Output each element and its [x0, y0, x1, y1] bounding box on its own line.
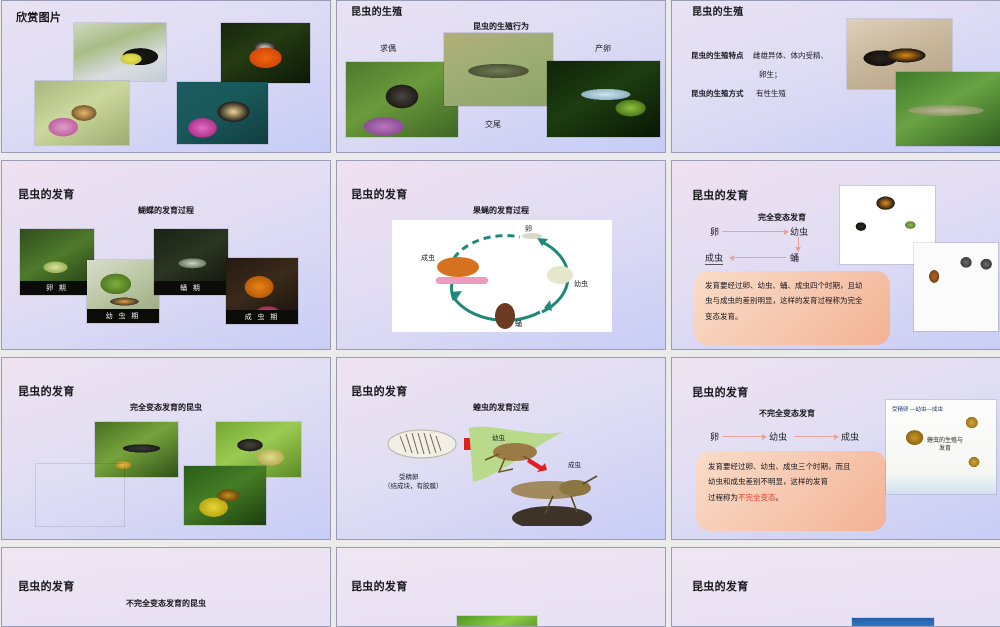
slide-thumbnail-2[interactable]: 昆虫的生殖 昆虫的生殖行为 求偶 交尾 产卵 — [336, 0, 666, 153]
photo-honeybee-on-flower — [184, 466, 266, 525]
cycle-label-adult: 成虫 — [421, 253, 435, 263]
callout-tail: 。 — [776, 493, 784, 502]
slide-thumbnail-9[interactable]: 昆虫的发育 不完全变态发育 卵 幼虫 成虫 发育要经过卵、幼虫、成虫三个时期，而… — [671, 357, 1000, 540]
slide-title: 昆虫的生殖 — [692, 3, 744, 18]
slide-subtitle: 蝴蝶的发育过程 — [2, 205, 330, 216]
callout-line-2: 幼虫和成虫差别不明显，这样的发育 — [708, 476, 874, 487]
diagram-center-label: 蝗虫的生殖与发育 — [926, 438, 964, 454]
photo-dragonfly-laying-eggs — [547, 61, 660, 137]
caption-adult: 成 虫 期 — [226, 312, 298, 322]
photo-fruit-fly-life-cycle-diagram — [914, 243, 998, 331]
slide-title: 昆虫的发育 — [18, 578, 75, 594]
cycle-label-pupa: 蛹 — [515, 319, 522, 329]
slide-title: 昆虫的发育 — [351, 186, 408, 202]
fruit-fly-cycle-panel: 卵 幼虫 蛹 成虫 — [392, 220, 612, 332]
caption-larva: 幼 虫 期 — [87, 311, 159, 321]
callout-line-1: 发育要经过卵、幼虫、成虫三个时期，而且 — [708, 461, 874, 472]
cycle-label-egg: 卵 — [525, 224, 532, 234]
stage-egg: 卵 — [710, 430, 719, 443]
stage-adult: 成虫 — [705, 251, 723, 265]
slide-thumbnail-grid[interactable]: 欣赏图片 昆虫的生殖 昆虫的生殖行为 求偶 交尾 产卵 昆虫的生殖 昆虫的生殖特… — [0, 0, 1000, 600]
slide-subtitle: 昆虫的生殖行为 — [337, 21, 665, 32]
label-repro-mode-value: 有性生殖 — [756, 88, 786, 99]
locust-adult-illustration — [497, 466, 607, 526]
arrowhead-right-1 — [762, 434, 767, 440]
label-repro-mode-key: 昆虫的生殖方式 — [691, 88, 744, 99]
cycle-label-larva: 幼虫 — [574, 279, 588, 289]
photo-aphids-on-stem — [896, 72, 1000, 146]
photo-ladybug-on-leaf — [36, 464, 124, 526]
arrow-larva-to-pupa — [798, 237, 799, 247]
slide-thumbnail-12[interactable]: 昆虫的发育 — [671, 547, 1000, 627]
caption-pupa: 蛹 期 — [154, 283, 228, 293]
slide-subtitle: 完全变态发育的昆虫 — [2, 402, 330, 413]
diagram-caption: 受精卵 —幼虫—成虫 — [892, 405, 943, 413]
photo-blue-water — [852, 618, 934, 627]
label-repro-traits-key: 昆虫的生殖特点 — [691, 50, 744, 61]
slide-title: 昆虫的发育 — [351, 383, 408, 399]
slide-thumbnail-6[interactable]: 昆虫的发育 完全变态发育 卵 幼虫 蛹 成虫 发育要经过卵、幼虫、蛹、成虫四个时… — [671, 160, 1000, 350]
stage-adult: 成虫 — [841, 430, 859, 443]
callout-line-2: 虫与成虫的差别明显，这样的发育过程称为完全 — [705, 295, 879, 306]
label-courtship: 求偶 — [380, 43, 396, 54]
stage-pupa: 蛹 — [790, 251, 799, 264]
slide-subtitle: 果蝇的发育过程 — [337, 205, 665, 216]
callout-line-3: 变态发育。 — [705, 311, 879, 322]
callout-highlight: 不完全变态 — [738, 493, 776, 502]
stage-egg: 卵 — [710, 225, 719, 238]
slide-thumbnail-4[interactable]: 昆虫的发育 蝴蝶的发育过程 卵 期 幼 虫 期 蛹 期 成 虫 期 — [1, 160, 331, 350]
slide-thumbnail-8[interactable]: 昆虫的发育 蝗虫的发育过程 受精卵 （结成块，有胶膜） 幼虫 成虫 — [336, 357, 666, 540]
label-mating: 交尾 — [485, 119, 501, 130]
slide-subtitle: 蝗虫的发育过程 — [337, 402, 665, 413]
slide-title: 昆虫的生殖 — [351, 3, 403, 18]
slide-thumbnail-7[interactable]: 昆虫的发育 完全变态发育的昆虫 — [1, 357, 331, 540]
slide-subtitle: 不完全变态发育 — [692, 408, 882, 419]
slide-title: 昆虫的发育 — [692, 578, 749, 594]
arrowhead-right-1 — [784, 229, 789, 235]
photo-butterfly-yellow-black — [74, 23, 166, 81]
photo-butterfly-orange-flower — [221, 23, 310, 83]
photo-green-foliage — [457, 616, 537, 627]
slide-thumbnail-11[interactable]: 昆虫的发育 — [336, 547, 666, 627]
slide-title: 昆虫的发育 — [692, 187, 749, 203]
photo-locust-life-cycle-diagram: 受精卵 —幼虫—成虫 蝗虫的生殖与发育 — [886, 400, 996, 494]
slide-title: 昆虫的发育 — [692, 384, 749, 400]
photo-dragonflies-mating — [444, 33, 553, 106]
photo-butterfly-pink-sedum — [35, 81, 129, 145]
arrow-egg-to-larva — [722, 436, 762, 437]
arrow-larva-to-adult — [794, 436, 834, 437]
slide-title: 昆虫的发育 — [18, 186, 75, 202]
label-repro-traits-value: 雌雄异体、体内受精、 — [753, 50, 828, 61]
label-egg-note: （结成块，有胶膜） — [384, 480, 443, 490]
stage-larva: 幼虫 — [769, 430, 787, 443]
slide-thumbnail-3[interactable]: 昆虫的生殖 昆虫的生殖特点 雌雄异体、体内受精、 卵生； 昆虫的生殖方式 有性生… — [671, 0, 1000, 153]
caption-egg: 卵 期 — [20, 283, 94, 293]
slide-title: 昆虫的发育 — [351, 578, 408, 594]
callout-incomplete-metamorphosis: 发育要经过卵、幼虫、成虫三个时期，而且 幼虫和成虫差别不明显，这样的发育 过程称… — [696, 451, 886, 531]
slide-title: 欣赏图片 — [16, 9, 61, 25]
arrowhead-left-1 — [729, 255, 734, 261]
arrow-pupa-to-adult — [734, 257, 786, 258]
slide-thumbnail-5[interactable]: 昆虫的发育 果蝇的发育过程 卵 幼虫 蛹 成虫 — [336, 160, 666, 350]
photo-butterfly-black-thistle — [177, 82, 268, 144]
label-repro-traits-value-2: 卵生； — [759, 69, 782, 80]
callout-complete-metamorphosis: 发育要经过卵、幼虫、蛹、成虫四个时期，且幼 虫与成虫的差别明显，这样的发育过程称… — [694, 271, 890, 345]
arrowhead-right-2 — [834, 434, 839, 440]
fruit-fly-cycle-diagram — [392, 220, 612, 332]
stage-larva: 幼虫 — [790, 225, 808, 238]
label-egglaying: 产卵 — [595, 43, 611, 54]
photo-butterflies-courtship — [346, 62, 458, 137]
callout-line-1: 发育要经过卵、幼虫、蛹、成虫四个时期，且幼 — [705, 280, 879, 291]
label-nymph: 幼虫 — [492, 432, 505, 442]
slide-thumbnail-1[interactable]: 欣赏图片 — [1, 0, 331, 153]
slide-title: 昆虫的发育 — [18, 383, 75, 399]
arrow-egg-to-larva — [722, 231, 784, 232]
slide-thumbnail-10[interactable]: 昆虫的发育 不完全变态发育的昆虫 — [1, 547, 331, 627]
callout-line-3: 过程称为 — [708, 493, 738, 502]
